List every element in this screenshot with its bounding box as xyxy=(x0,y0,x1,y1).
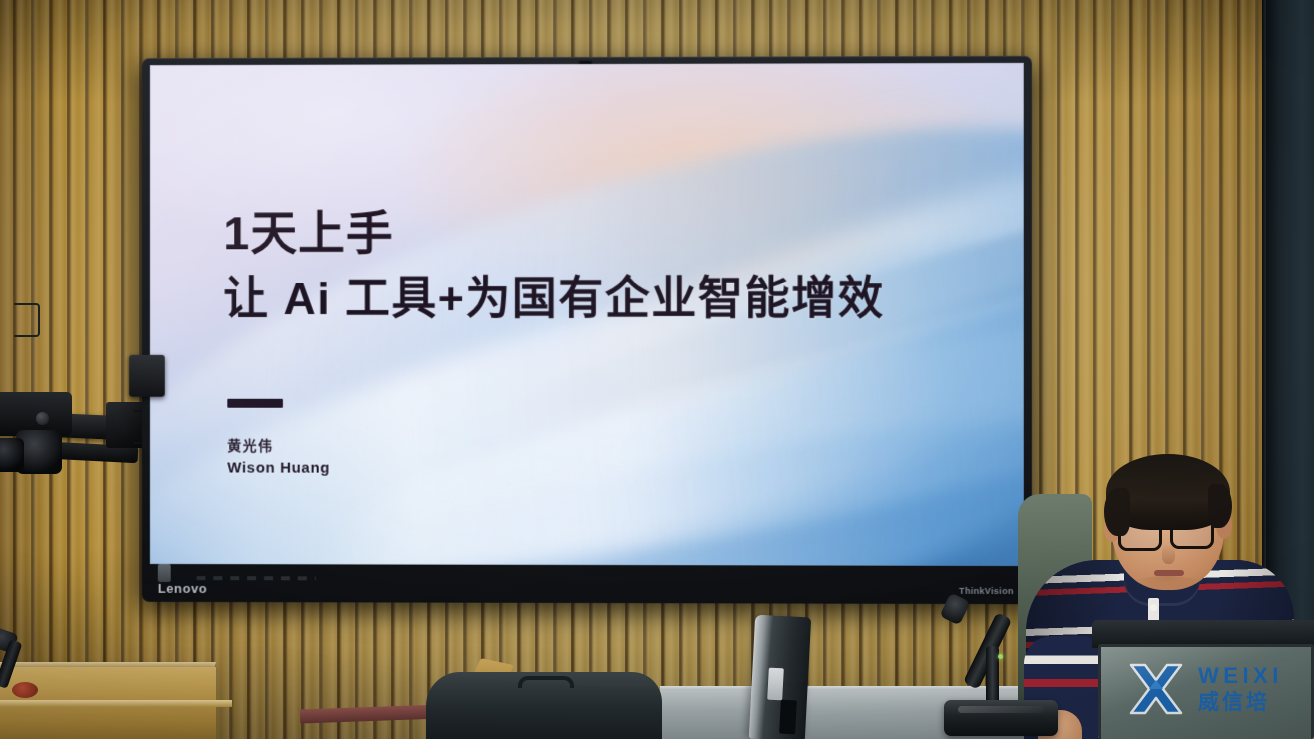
presentation-room-scene: 1天上手 让 Ai 工具+为国有企业智能增效 黄光伟 Wison Huang L… xyxy=(0,0,1314,739)
tablet-stand-slot xyxy=(779,700,797,735)
display-inner-edge xyxy=(150,63,1024,566)
podium-edge xyxy=(0,700,232,707)
tablet-label xyxy=(767,668,784,701)
presenter-hair-side-left xyxy=(1104,488,1130,536)
laptop-screen-glare xyxy=(1101,647,1311,739)
display-port-row xyxy=(197,576,316,580)
rig-adjust-knob xyxy=(36,412,49,425)
microphone-base-left xyxy=(12,682,38,698)
microphone-status-led xyxy=(998,654,1003,659)
camera-lens-secondary-icon xyxy=(0,438,24,472)
display-sticker xyxy=(158,564,171,582)
display-brand-thinkvision: ThinkVision xyxy=(959,586,1014,596)
presenter-nose xyxy=(1162,544,1175,564)
interactive-display[interactable]: 1天上手 让 Ai 工具+为国有企业智能增效 黄光伟 Wison Huang L… xyxy=(142,56,1032,604)
laptop-screen-back: WEIXI 威信培 xyxy=(1098,644,1314,739)
backpack-handle xyxy=(518,676,574,688)
microphone-base-highlight xyxy=(958,706,1044,713)
display-brand-lenovo: Lenovo xyxy=(158,581,207,596)
display-side-bracket xyxy=(129,355,165,397)
presenter-chin-shadow xyxy=(1132,576,1202,592)
polo-button xyxy=(1150,604,1157,611)
presenter-hair-side-right xyxy=(1208,484,1232,528)
display-side-bracket-bar xyxy=(14,303,40,337)
